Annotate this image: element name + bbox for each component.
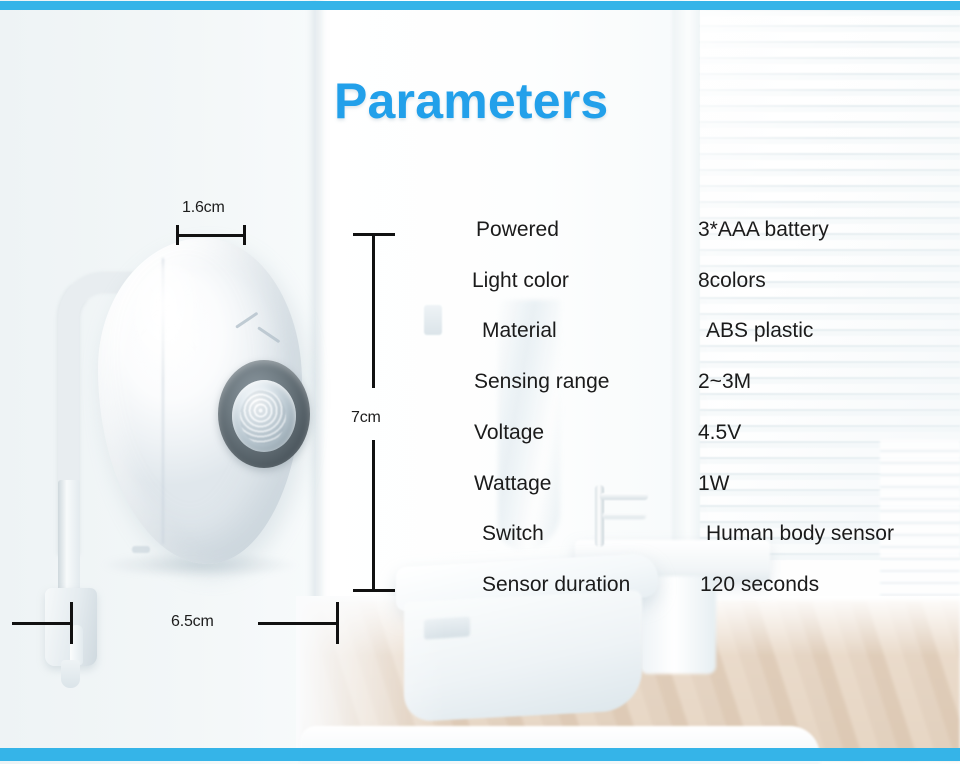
dimension-label-width: 1.6cm	[182, 199, 225, 217]
dimension-label-height: 7cm	[351, 409, 381, 427]
dimension-line-depth-left	[12, 622, 70, 625]
mounting-arm-stem	[58, 480, 80, 600]
dimension-cap-depth-left	[70, 602, 73, 644]
dimension-cap-width-left	[176, 225, 179, 245]
parameter-name: Sensor duration	[482, 573, 630, 597]
parameter-value: 3*AAA battery	[698, 218, 829, 242]
parameter-value: 8colors	[698, 269, 766, 293]
faucet-handle	[602, 513, 646, 519]
parameter-value: 1W	[698, 472, 730, 496]
parameter-name: Voltage	[474, 421, 544, 445]
chevron-vent-icon	[236, 326, 280, 350]
product-housing-notch	[132, 546, 150, 553]
table-row: Light color8colors	[470, 269, 940, 299]
parameter-name: Light color	[472, 269, 569, 293]
dimension-line-depth-right	[258, 622, 338, 625]
product-highlight	[132, 264, 210, 382]
table-row: Voltage4.5V	[470, 421, 940, 451]
pir-lens-fresnel	[240, 390, 286, 444]
table-row: SwitchHuman body sensor	[470, 522, 940, 552]
table-row: MaterialABS plastic	[470, 319, 940, 349]
parameter-name: Switch	[482, 522, 544, 546]
parameter-value: 120 seconds	[700, 573, 819, 597]
mounting-bracket-tip	[61, 660, 80, 688]
towel-hook	[424, 305, 442, 335]
parameter-name: Wattage	[474, 472, 551, 496]
parameter-value: Human body sensor	[706, 522, 894, 546]
table-row: Wattage1W	[470, 472, 940, 502]
dimension-label-depth: 6.5cm	[171, 613, 214, 631]
table-row: Powered3*AAA battery	[470, 218, 940, 248]
product-parameters-banner: Parameters 1.6cm 7cm 6.5cm Powered3*AAA …	[0, 0, 960, 764]
page-title: Parameters	[334, 72, 608, 130]
parameter-value: 2~3M	[698, 370, 751, 394]
dimension-cap-depth-right	[336, 602, 339, 644]
table-row: Sensing range2~3M	[470, 370, 940, 400]
parameter-value: ABS plastic	[706, 319, 813, 343]
dimension-cap-width-right	[243, 225, 246, 245]
bottom-accent-bar	[0, 748, 960, 761]
top-accent-bar	[0, 1, 960, 10]
dimension-line-height-upper	[372, 236, 375, 388]
parameter-name: Powered	[476, 218, 559, 242]
parameter-name: Sensing range	[474, 370, 609, 394]
table-row: Sensor duration120 seconds	[470, 573, 940, 603]
parameter-value: 4.5V	[698, 421, 741, 445]
dimension-cap-height-bottom	[353, 589, 395, 592]
dimension-line-height-lower	[372, 440, 375, 590]
dimension-line-width	[176, 234, 246, 237]
parameter-name: Material	[482, 319, 557, 343]
